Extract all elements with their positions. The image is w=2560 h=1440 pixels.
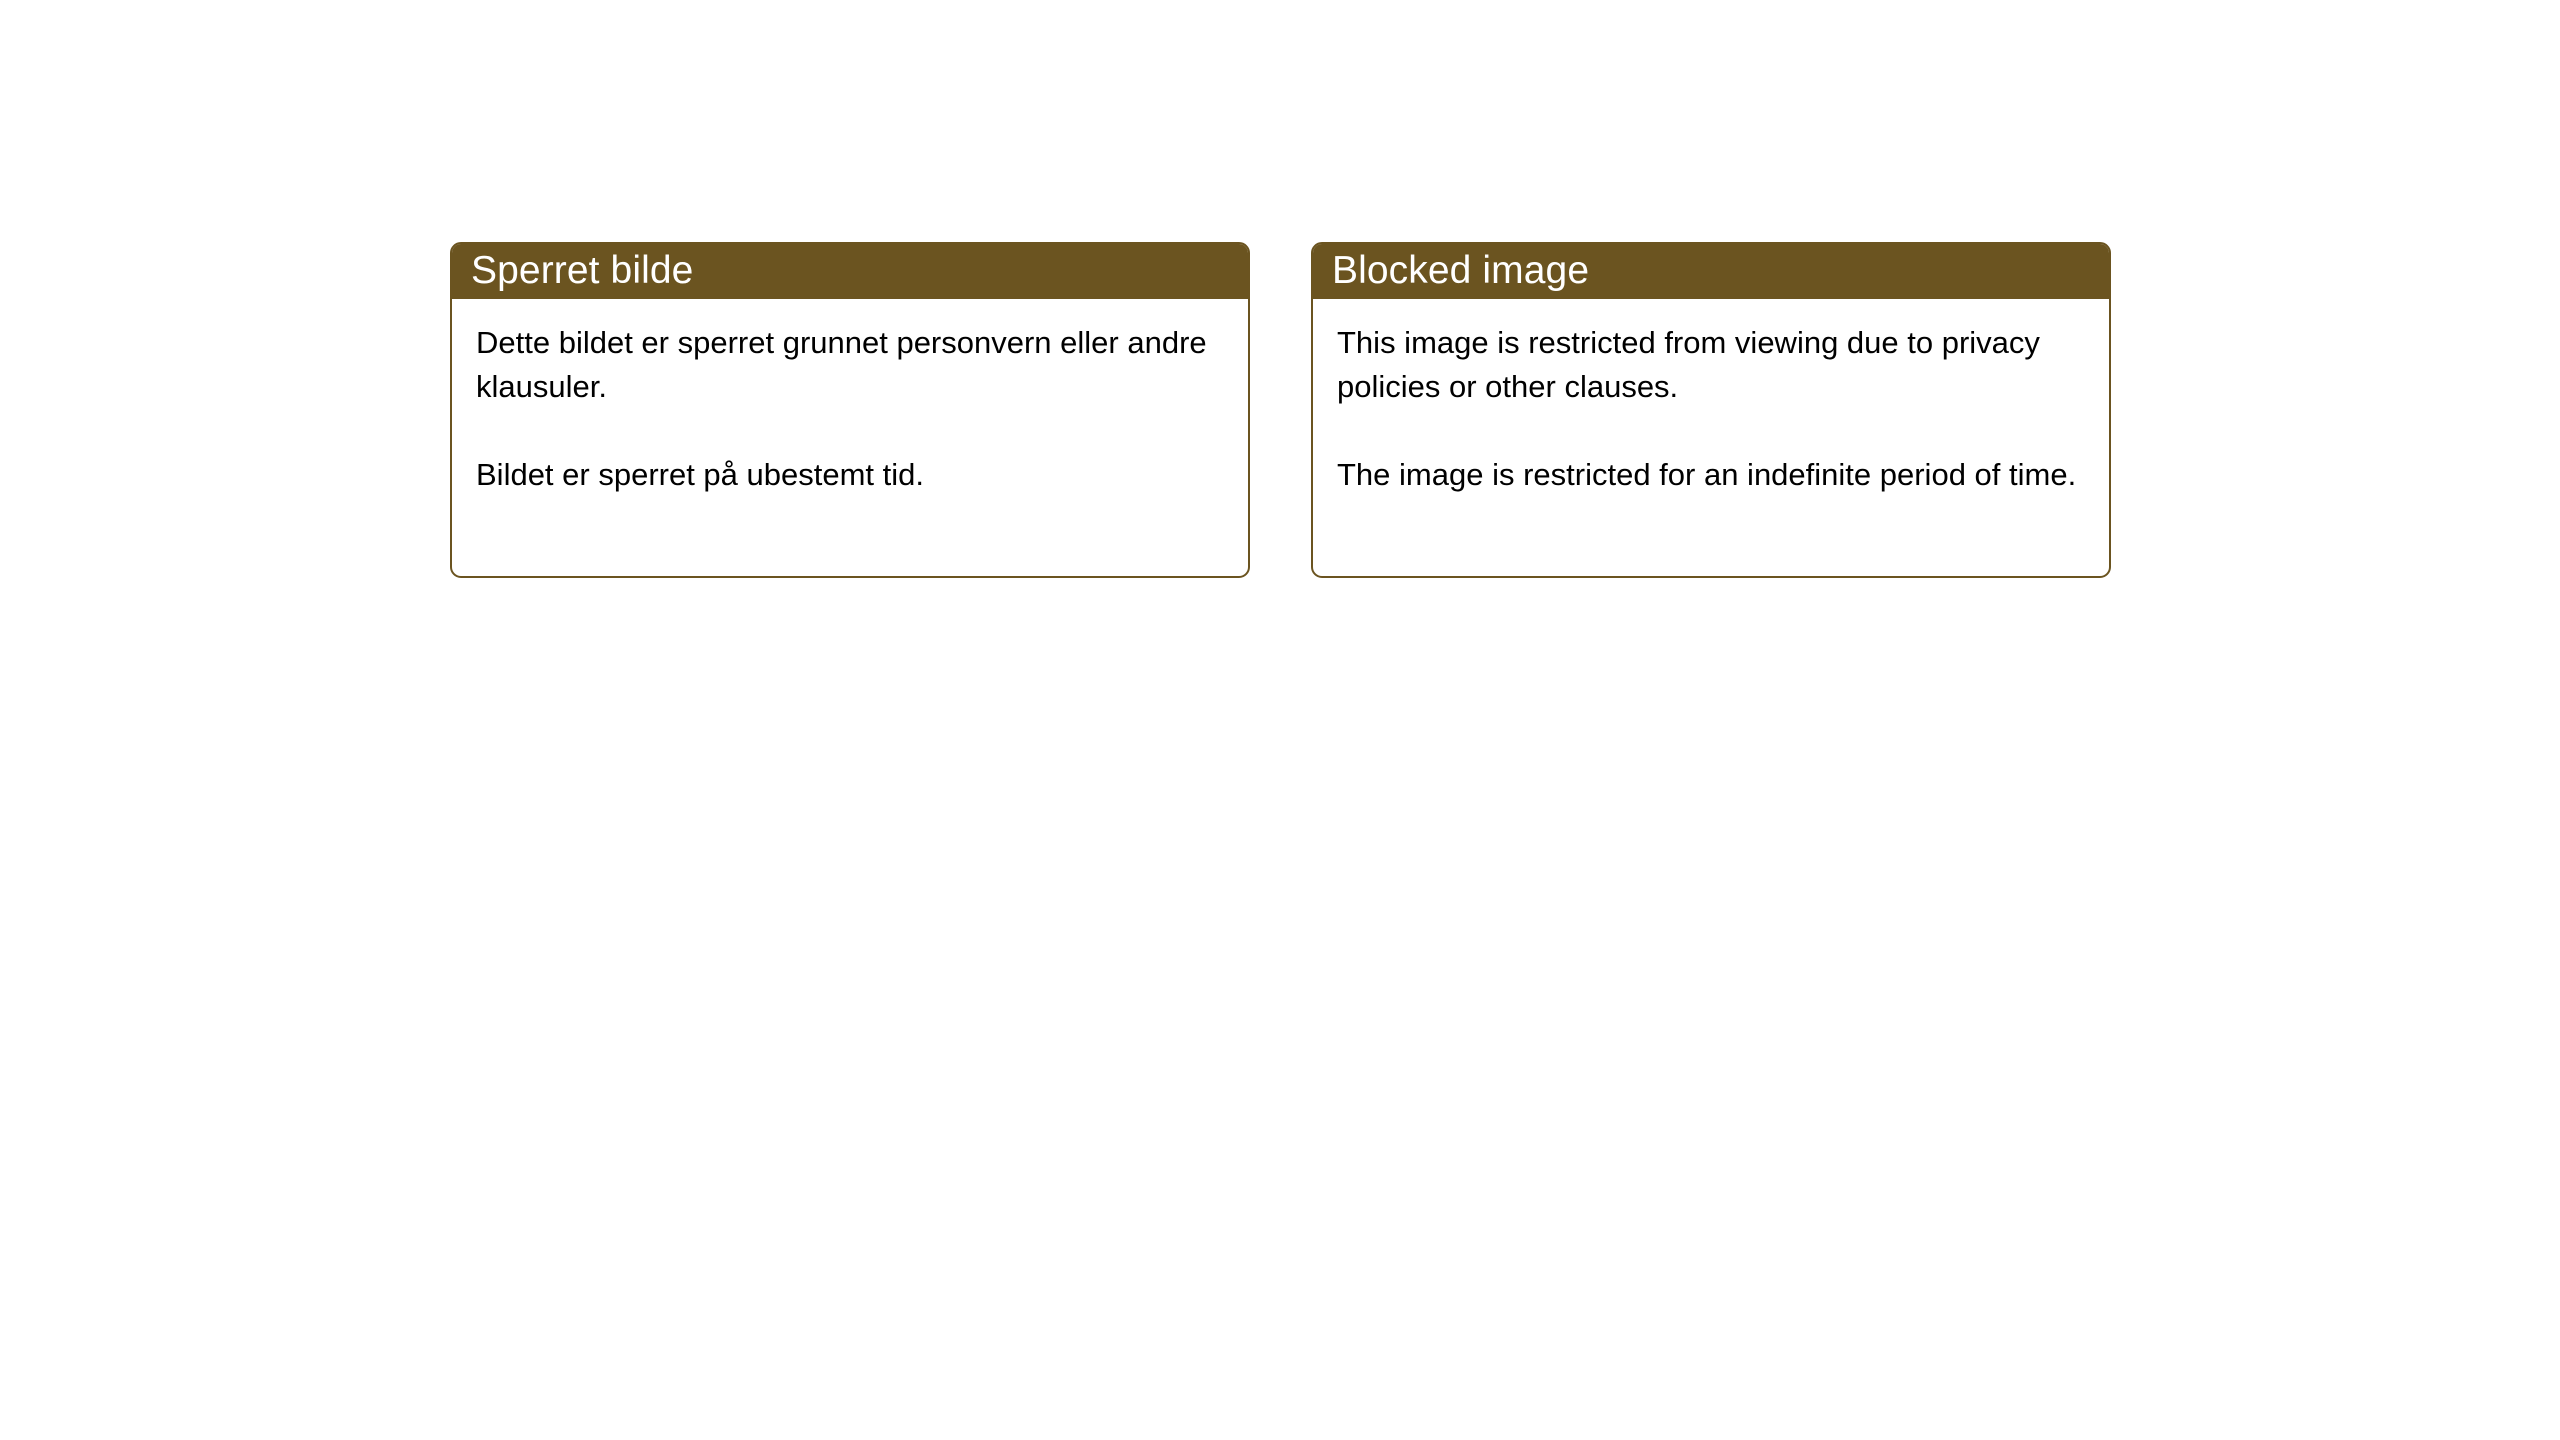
card-body-norwegian: Dette bildet er sperret grunnet personve…: [452, 299, 1248, 497]
blocked-image-card-norwegian: Sperret bilde Dette bildet er sperret gr…: [450, 242, 1250, 578]
card-paragraph: Bildet er sperret på ubestemt tid.: [476, 453, 1222, 497]
card-header-norwegian: Sperret bilde: [450, 242, 1250, 299]
card-body-english: This image is restricted from viewing du…: [1313, 299, 2109, 497]
card-title-english: Blocked image: [1332, 249, 1589, 293]
card-header-english: Blocked image: [1311, 242, 2111, 299]
card-paragraph: The image is restricted for an indefinit…: [1337, 453, 2083, 497]
card-title-norwegian: Sperret bilde: [471, 249, 693, 293]
card-paragraph: This image is restricted from viewing du…: [1337, 321, 2083, 409]
blocked-image-card-english: Blocked image This image is restricted f…: [1311, 242, 2111, 578]
page-canvas: Sperret bilde Dette bildet er sperret gr…: [0, 0, 2560, 1440]
card-paragraph: Dette bildet er sperret grunnet personve…: [476, 321, 1222, 409]
